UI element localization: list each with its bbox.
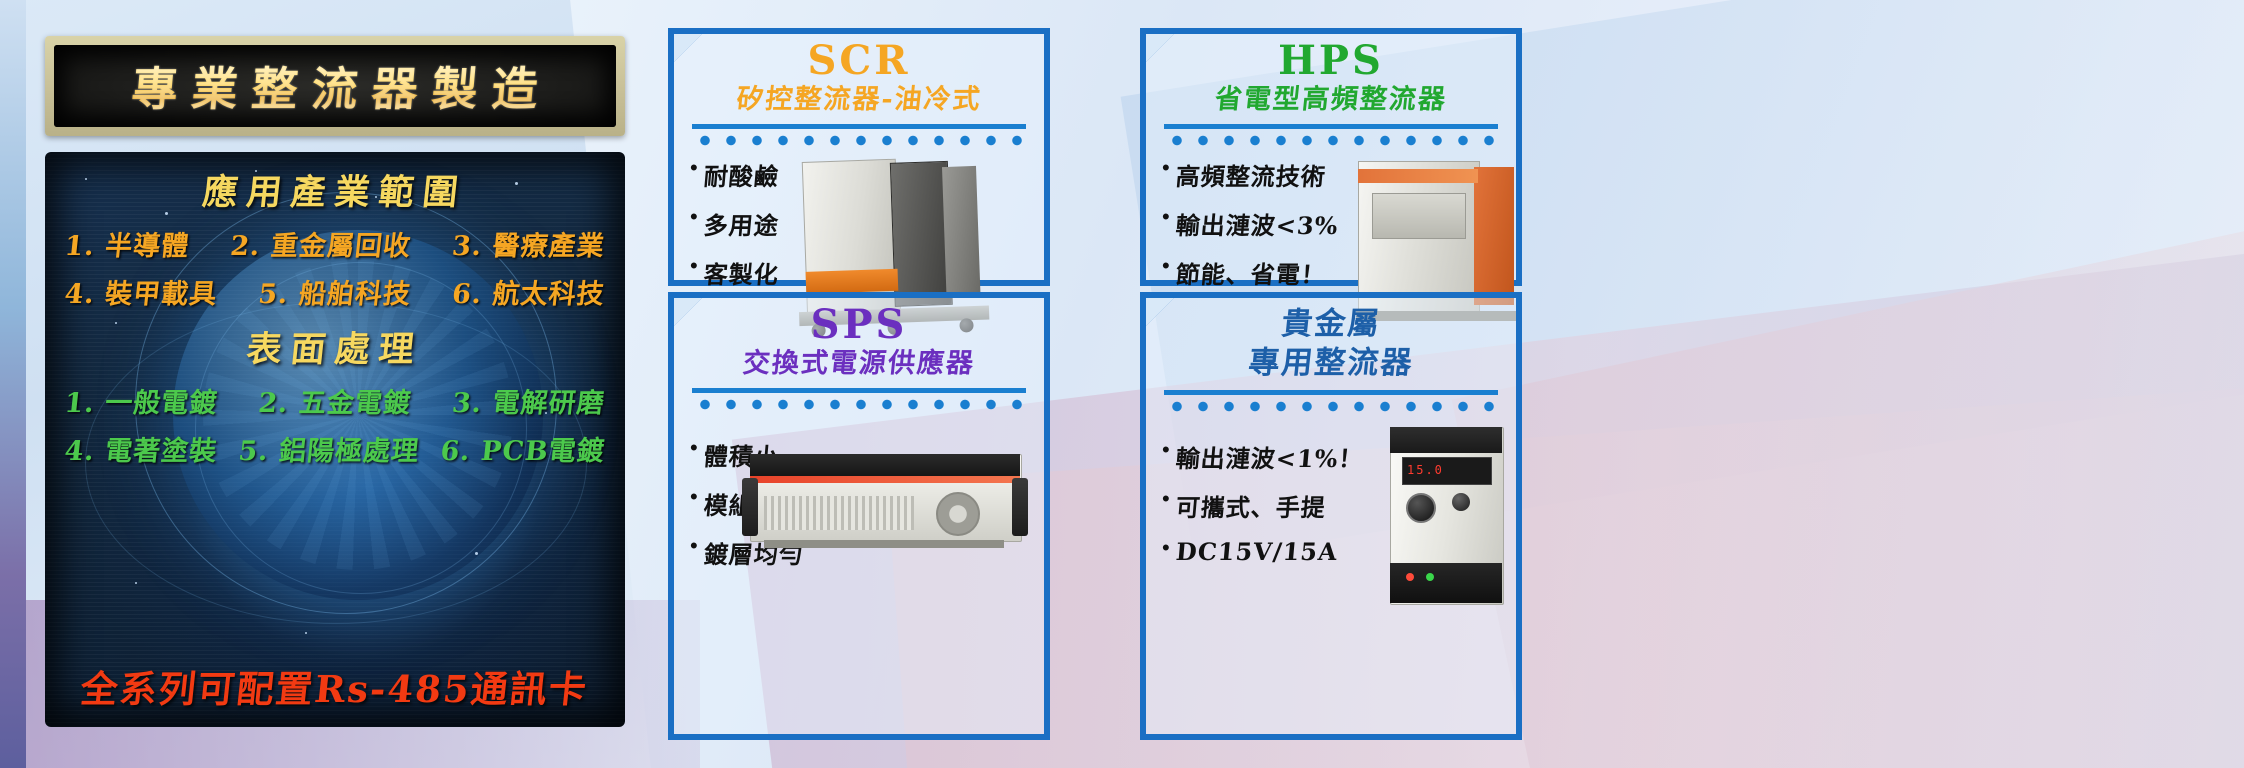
footer-note-bar: 全系列可配置Rs-485通訊卡 (45, 659, 625, 713)
card-separator (692, 388, 1026, 411)
bullet-dot-icon: • (690, 437, 698, 459)
industry-section-title: 應用產業範圍 (58, 164, 611, 215)
card-title-en: HPS (1146, 40, 1516, 82)
bullet-dot-icon: • (690, 255, 698, 277)
industry-item: 2. 重金屬回收 (229, 224, 414, 263)
control-knob-icon (1406, 493, 1436, 523)
surface-row: 1. 一般電鍍 2. 五金電鍍 3. 電解研磨 (59, 381, 611, 420)
feature-label: 可攜式、手提 (1174, 488, 1327, 523)
bullet-dot-icon: • (1162, 488, 1170, 510)
surface-item: 4. 電著塗裝 (63, 429, 220, 468)
bullet-dot-icon: • (690, 535, 698, 557)
industry-row: 1. 半導體 2. 重金屬回收 3. 醫療產業 (59, 224, 611, 263)
bullet-dot-icon: • (690, 486, 698, 508)
list-item: • DC15V/15A (1162, 537, 1363, 566)
bullet-dot-icon: • (1162, 537, 1170, 559)
feature-label: 輸出漣波<3% (1174, 206, 1340, 241)
list-item: • 節能、省電！ (1162, 255, 1338, 290)
card-header: 貴金屬 專用整流器 (1146, 298, 1516, 382)
list-item: • 客製化 (690, 255, 779, 290)
industry-item: 6. 航太科技 (450, 272, 607, 311)
card-separator (1164, 124, 1498, 147)
feature-label: 多用途 (702, 206, 780, 241)
product-card-sps[interactable]: SPS 交換式電源供應器 • 體積小 • 模組化 • 鍍層均勻 (668, 292, 1050, 740)
card-title-cn: 矽控整流器-油冷式 (672, 84, 1045, 116)
card-header: HPS 省電型高頻整流器 (1146, 34, 1516, 116)
device-display: 15.0 (1402, 457, 1492, 485)
product-card-precious-metal[interactable]: 貴金屬 專用整流器 • 輸出漣波<1%！ • 可攜式、手提 • DC15V/15… (1140, 292, 1522, 740)
card-feature-list: • 輸出漣波<1%！ • 可攜式、手提 • DC15V/15A (1162, 439, 1363, 580)
feature-label: 客製化 (702, 255, 780, 290)
list-item: • 可攜式、手提 (1162, 488, 1363, 523)
list-item: • 輸出漣波<3% (1162, 206, 1338, 241)
surface-item: 3. 電解研磨 (450, 381, 607, 420)
footer-note: 全系列可配置Rs-485通訊卡 (79, 659, 592, 713)
feature-label: 輸出漣波<1%！ (1174, 439, 1365, 474)
surface-item: 5. 鋁陽極處理 (237, 429, 422, 468)
bullet-dot-icon: • (690, 206, 698, 228)
left-column: 專業整流器製造 應用產業範圍 1. 半導 (40, 0, 640, 768)
surface-item: 2. 五金電鍍 (257, 381, 414, 420)
industry-item: 4. 裝甲載具 (63, 272, 220, 311)
card-title-cn: 交換式電源供應器 (672, 348, 1045, 380)
plaque-title-frame: 專業整流器製造 (45, 36, 625, 136)
feature-label: 高頻整流技術 (1174, 157, 1327, 192)
list-item: • 高頻整流技術 (1162, 157, 1338, 192)
feature-label: 耐酸鹼 (702, 157, 780, 192)
feature-label: 節能、省電！ (1174, 255, 1327, 290)
industry-item: 1. 半導體 (63, 224, 192, 263)
surface-item: 6. PCB電鍍 (439, 429, 607, 468)
card-header: SPS 交換式電源供應器 (674, 298, 1044, 380)
bullet-dot-icon: • (1162, 255, 1170, 277)
industry-item: 5. 船舶科技 (257, 272, 414, 311)
surface-item: 1. 一般電鍍 (63, 381, 220, 420)
display-value: 15.0 (1407, 463, 1444, 477)
list-item: • 輸出漣波<1%！ (1162, 439, 1363, 474)
card-feature-list: • 耐酸鹼 • 多用途 • 客製化 (690, 157, 779, 304)
industry-row: 4. 裝甲載具 5. 船舶科技 6. 航太科技 (59, 272, 611, 311)
bullet-dot-icon: • (1162, 157, 1170, 179)
product-photo-sps (740, 438, 1040, 578)
industry-panel: 應用產業範圍 1. 半導體 2. 重金屬回收 3. 醫療產業 4. 裝甲載具 5… (45, 152, 625, 727)
card-header: SCR 矽控整流器-油冷式 (674, 34, 1044, 116)
feature-label: DC15V/15A (1174, 537, 1338, 566)
list-item: • 耐酸鹼 (690, 157, 779, 192)
product-card-hps[interactable]: HPS 省電型高頻整流器 • 高頻整流技術 • 輸出漣波<3% • 節能、省電！ (1140, 28, 1522, 286)
industry-item: 3. 醫療產業 (450, 224, 607, 263)
card-title-cn-line2: 專用整流器 (1144, 345, 1518, 382)
card-title-cn: 省電型高頻整流器 (1144, 84, 1517, 116)
list-item: • 多用途 (690, 206, 779, 241)
card-feature-list: • 高頻整流技術 • 輸出漣波<3% • 節能、省電！ (1162, 157, 1338, 304)
card-title-cn-line1: 貴金屬 (1144, 306, 1518, 343)
bullet-dot-icon: • (1162, 206, 1170, 228)
product-photo-precious-metal: 15.0 (1364, 423, 1524, 633)
card-title-en: SPS (674, 304, 1044, 346)
surface-row: 4. 電著塗裝 5. 鋁陽極處理 6. PCB電鍍 (59, 429, 611, 468)
control-knob-icon (1452, 493, 1470, 511)
bullet-dot-icon: • (690, 157, 698, 179)
surface-section-title: 表面處理 (58, 321, 611, 372)
product-card-scr[interactable]: SCR 矽控整流器-油冷式 • 耐酸鹼 • 多用途 • 客製化 (668, 28, 1050, 286)
card-separator (1164, 390, 1498, 413)
bullet-dot-icon: • (1162, 439, 1170, 461)
card-title-en: SCR (674, 40, 1044, 82)
card-separator (692, 124, 1026, 147)
page-title: 專業整流器製造 (115, 53, 555, 119)
